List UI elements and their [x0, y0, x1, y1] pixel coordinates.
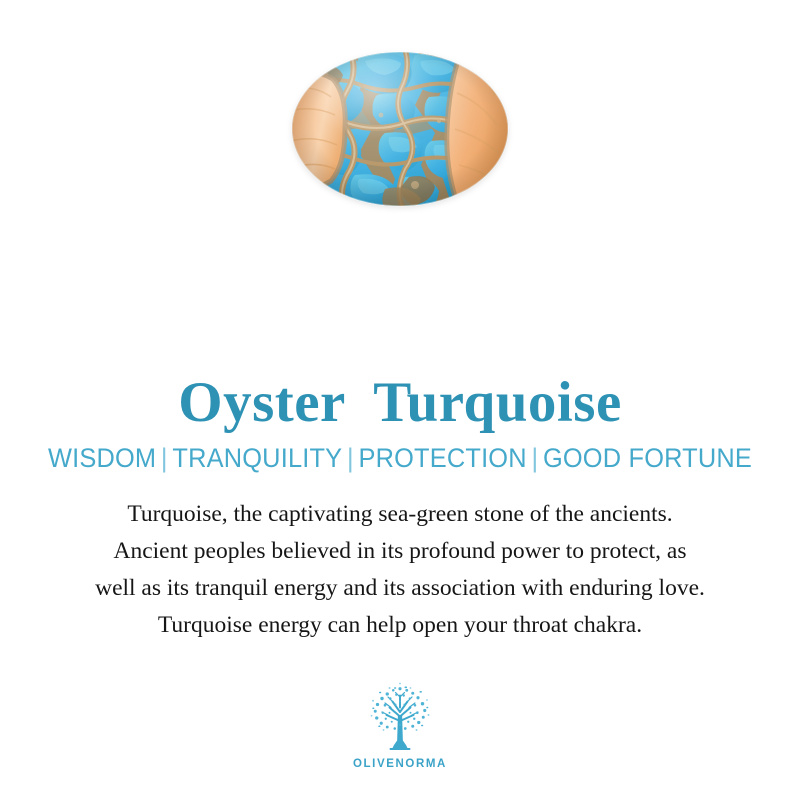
keyword-list: WISDOM|TRANQUILITY|PROTECTION|GOOD FORTU… [24, 444, 776, 474]
hero-image-area [0, 0, 800, 300]
gemstone-image [289, 49, 511, 209]
description-line: Turquoise energy can help open your thro… [0, 607, 800, 644]
oyster-turquoise-cabochon-icon [289, 49, 511, 209]
keyword-good-fortune: GOOD FORTUNE [543, 443, 752, 473]
keyword-wisdom: WISDOM [48, 443, 156, 473]
brand-logo: OLIVENORMA [0, 682, 800, 770]
keyword-separator: | [342, 443, 358, 473]
product-info-card: Oyster Turquoise WISDOM|TRANQUILITY|PROT… [0, 0, 800, 800]
keyword-tranquility: TRANQUILITY [172, 443, 342, 473]
keyword-separator: | [527, 443, 543, 473]
description-line: well as its tranquil energy and its asso… [0, 570, 800, 607]
tree-of-life-icon [362, 682, 438, 754]
brand-name: OLIVENORMA [353, 758, 447, 770]
keyword-protection: PROTECTION [358, 443, 526, 473]
page-title: Oyster Turquoise [0, 374, 800, 432]
description-text: Turquoise, the captivating sea-green sto… [0, 496, 800, 644]
keyword-separator: | [156, 443, 172, 473]
description-line: Ancient peoples believed in its profound… [0, 533, 800, 570]
description-line: Turquoise, the captivating sea-green sto… [0, 496, 800, 533]
